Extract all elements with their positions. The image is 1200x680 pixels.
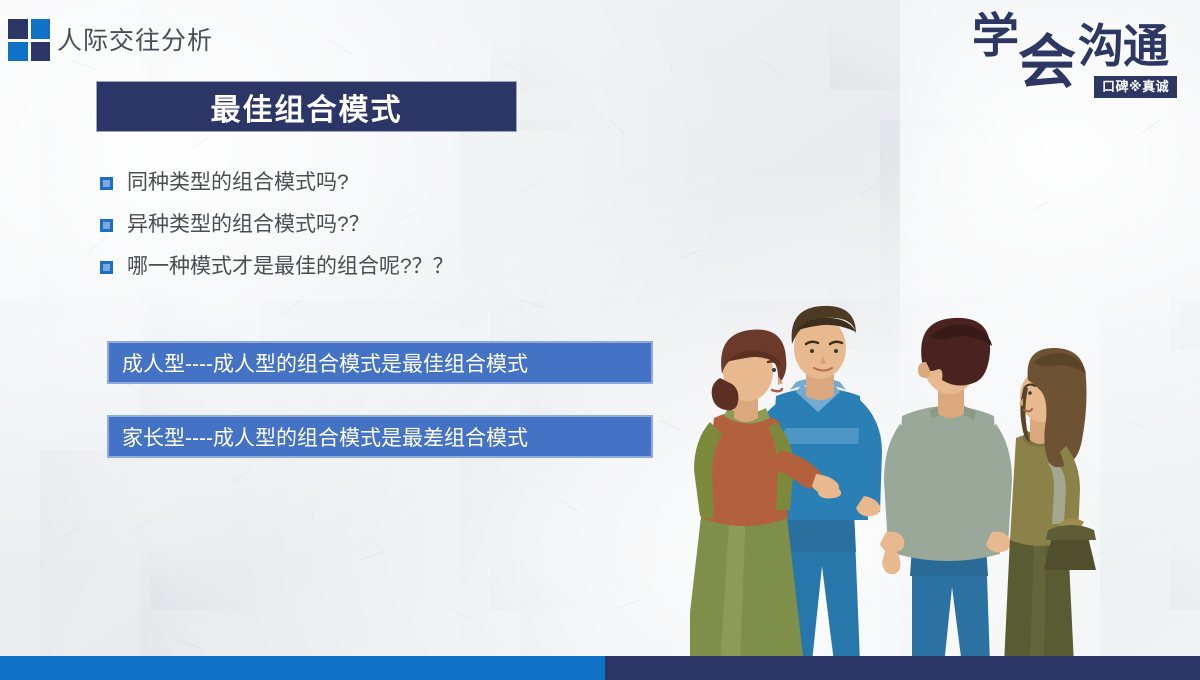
page-title: 最佳组合模式 [211,85,403,129]
brand-char-xue: 学 [972,14,1019,61]
logo-square-top-left [8,19,28,39]
four-square-logo [8,19,50,61]
bullet-text: 同种类型的组合模式吗? [127,170,349,196]
footer-bar [0,656,1200,680]
square-bullet-icon [100,261,113,274]
bullet-list: 同种类型的组合模式吗? 异种类型的组合模式吗?？ 哪一种模式才是最佳的组合呢?？… [100,170,660,296]
highlight-bar-text: 家长型----成人型的组合模式是最差组合模式 [109,422,528,452]
brand-chars-goutong: 沟通 [1078,24,1168,70]
logo-square-bottom-right [31,42,51,62]
figure-woman-right [1004,348,1096,665]
footer-bar-left [0,656,605,680]
highlight-bar-best: 成人型----成人型的组合模式是最佳组合模式 [107,341,653,384]
slide-canvas: 人际交往分析 学 会 沟通 口碑※真诚 最佳组合模式 同种类型的组合模式吗? 异… [0,0,1200,680]
bullet-text: 哪一种模式才是最佳的组合呢?？？ [127,254,454,280]
brand-tagline-badge: 口碑※真诚 [1094,76,1177,98]
square-bullet-icon [100,219,113,232]
bullet-text: 异种类型的组合模式吗?？ [127,212,370,238]
logo-square-bottom-left [8,42,28,62]
list-item: 哪一种模式才是最佳的组合呢?？？ [100,254,660,282]
footer-bar-right [605,656,1200,680]
highlight-bar-worst: 家长型----成人型的组合模式是最差组合模式 [107,415,653,458]
brand-lockup: 学 会 沟通 口碑※真诚 [966,12,1188,108]
highlight-bar-text: 成人型----成人型的组合模式是最佳组合模式 [109,348,528,378]
square-bullet-icon [100,177,113,190]
title-banner: 最佳组合模式 [96,81,517,132]
list-item: 异种类型的组合模式吗?？ [100,212,660,240]
brand-char-hui: 会 [1018,34,1076,92]
four-people-conversation-illustration [690,300,1110,665]
figure-man-gray [880,318,1012,665]
list-item: 同种类型的组合模式吗? [100,170,660,198]
logo-square-top-right [31,19,51,39]
header-title: 人际交往分析 [57,21,213,57]
